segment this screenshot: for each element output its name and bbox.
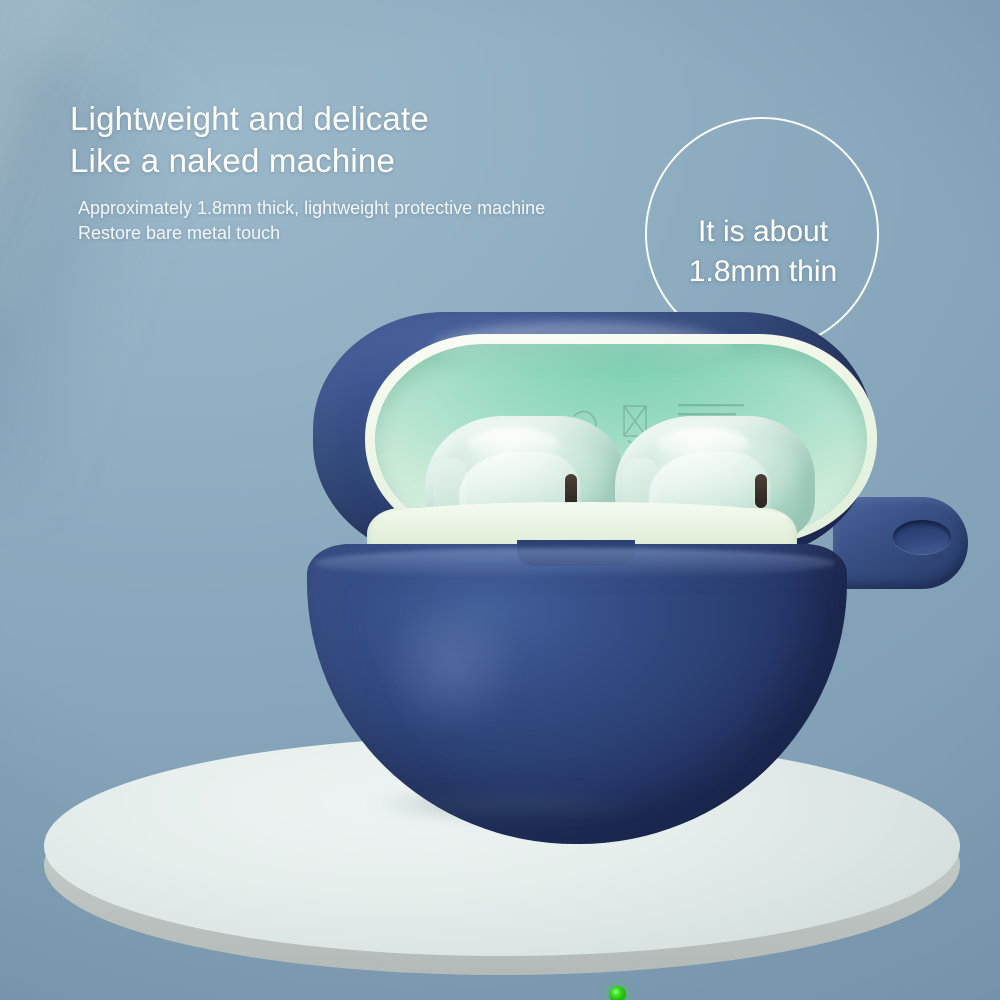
case-body-rim-highlight	[315, 548, 835, 578]
lid-highlight	[433, 322, 733, 370]
case-contact-shadow	[330, 788, 730, 828]
headline-line-1: Lightweight and delicate	[70, 98, 590, 140]
case-tray-lip	[377, 502, 787, 532]
keychain-loop-hole	[893, 520, 951, 554]
subcopy-text: Approximately 1.8mm thick, lightweight p…	[70, 196, 548, 246]
case-body-sheen	[351, 570, 551, 760]
earbud-microphone-slot	[755, 474, 767, 508]
led-indicator	[609, 986, 626, 1000]
callout-line-2: 1.8mm thin	[648, 252, 878, 292]
earbuds-charging-case	[285, 312, 925, 842]
callout-text: It is about 1.8mm thin	[648, 212, 878, 292]
callout-line-1: It is about	[648, 212, 878, 252]
copy-block: Lightweight and delicate Like a naked ma…	[70, 98, 590, 246]
earbud-gloss-highlight	[657, 428, 749, 460]
product-marketing-image: Lightweight and delicate Like a naked ma…	[0, 0, 1000, 1000]
headline-line-2: Like a naked machine	[70, 140, 590, 182]
earbud-gloss-highlight	[467, 428, 559, 460]
